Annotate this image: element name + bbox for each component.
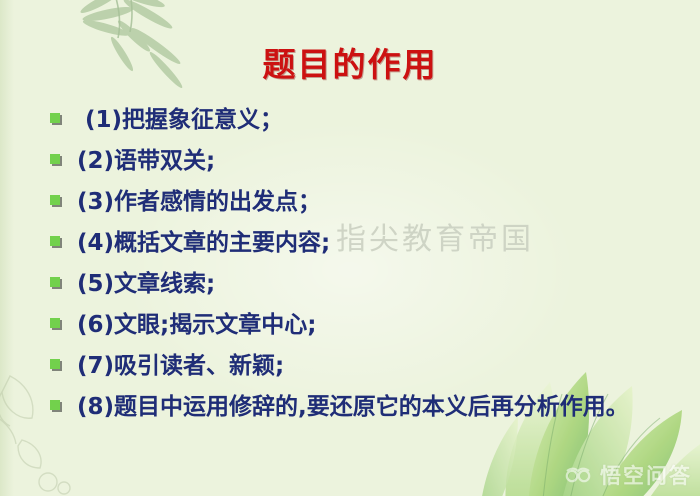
cloud-logo-icon (563, 465, 593, 485)
brand-watermark: 悟空问答 (563, 460, 692, 490)
list-item: (5)文章线索; (42, 264, 682, 304)
list-item-label: (1)把握象征意义； (77, 100, 682, 140)
brand-watermark-label: 悟空问答 (600, 460, 692, 490)
list-item: (3)作者感情的出发点； (42, 182, 682, 222)
square-bullet-icon (50, 154, 60, 164)
page-title: 题目的作用 (0, 38, 700, 86)
slide-canvas: 指尖教育帝国 悟空问答 题目的作用 (1)把握象征意义； (2)语带双关; (3… (0, 0, 700, 496)
square-bullet-icon (50, 359, 60, 369)
square-bullet-icon (50, 277, 60, 287)
list-item: (4)概括文章的主要内容; (42, 223, 682, 263)
list-item-label: (3)作者感情的出发点； (77, 182, 682, 222)
square-bullet-icon (50, 236, 60, 246)
bullet-list: (1)把握象征意义； (2)语带双关; (3)作者感情的出发点； (4)概括文章… (42, 100, 682, 428)
square-bullet-icon (50, 195, 60, 205)
list-item: (2)语带双关; (42, 141, 682, 181)
list-item-label: (5)文章线索; (77, 264, 682, 304)
square-bullet-icon (50, 400, 60, 410)
list-item-label: (2)语带双关; (77, 141, 682, 181)
list-item-label: (8)题目中运用修辞的,要还原它的本义后再分析作用。 (77, 387, 682, 427)
list-item-label: (6)文眼;揭示文章中心; (77, 305, 682, 345)
list-item: (8)题目中运用修辞的,要还原它的本义后再分析作用。 (42, 387, 682, 427)
square-bullet-icon (50, 318, 60, 328)
list-item-label: (7)吸引读者、新颖; (77, 346, 682, 386)
list-item: (6)文眼;揭示文章中心; (42, 305, 682, 345)
list-item: (7)吸引读者、新颖; (42, 346, 682, 386)
square-bullet-icon (50, 113, 60, 123)
list-item: (1)把握象征意义； (42, 100, 682, 140)
list-item-label: (4)概括文章的主要内容; (77, 223, 682, 263)
